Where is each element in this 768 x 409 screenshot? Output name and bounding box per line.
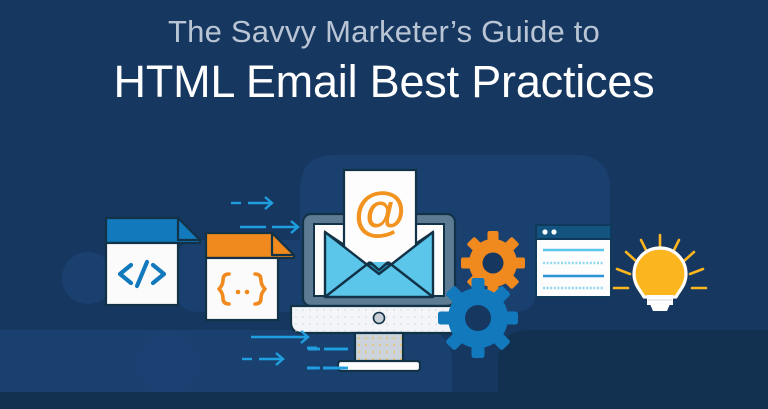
hero-banner: The Savvy Marketer’s Guide to HTML Email…	[0, 0, 768, 409]
banner-eyebrow: The Savvy Marketer’s Guide to	[0, 12, 768, 52]
banner-headline: HTML Email Best Practices	[0, 55, 768, 110]
title-block: The Savvy Marketer’s Guide to HTML Email…	[0, 12, 768, 110]
